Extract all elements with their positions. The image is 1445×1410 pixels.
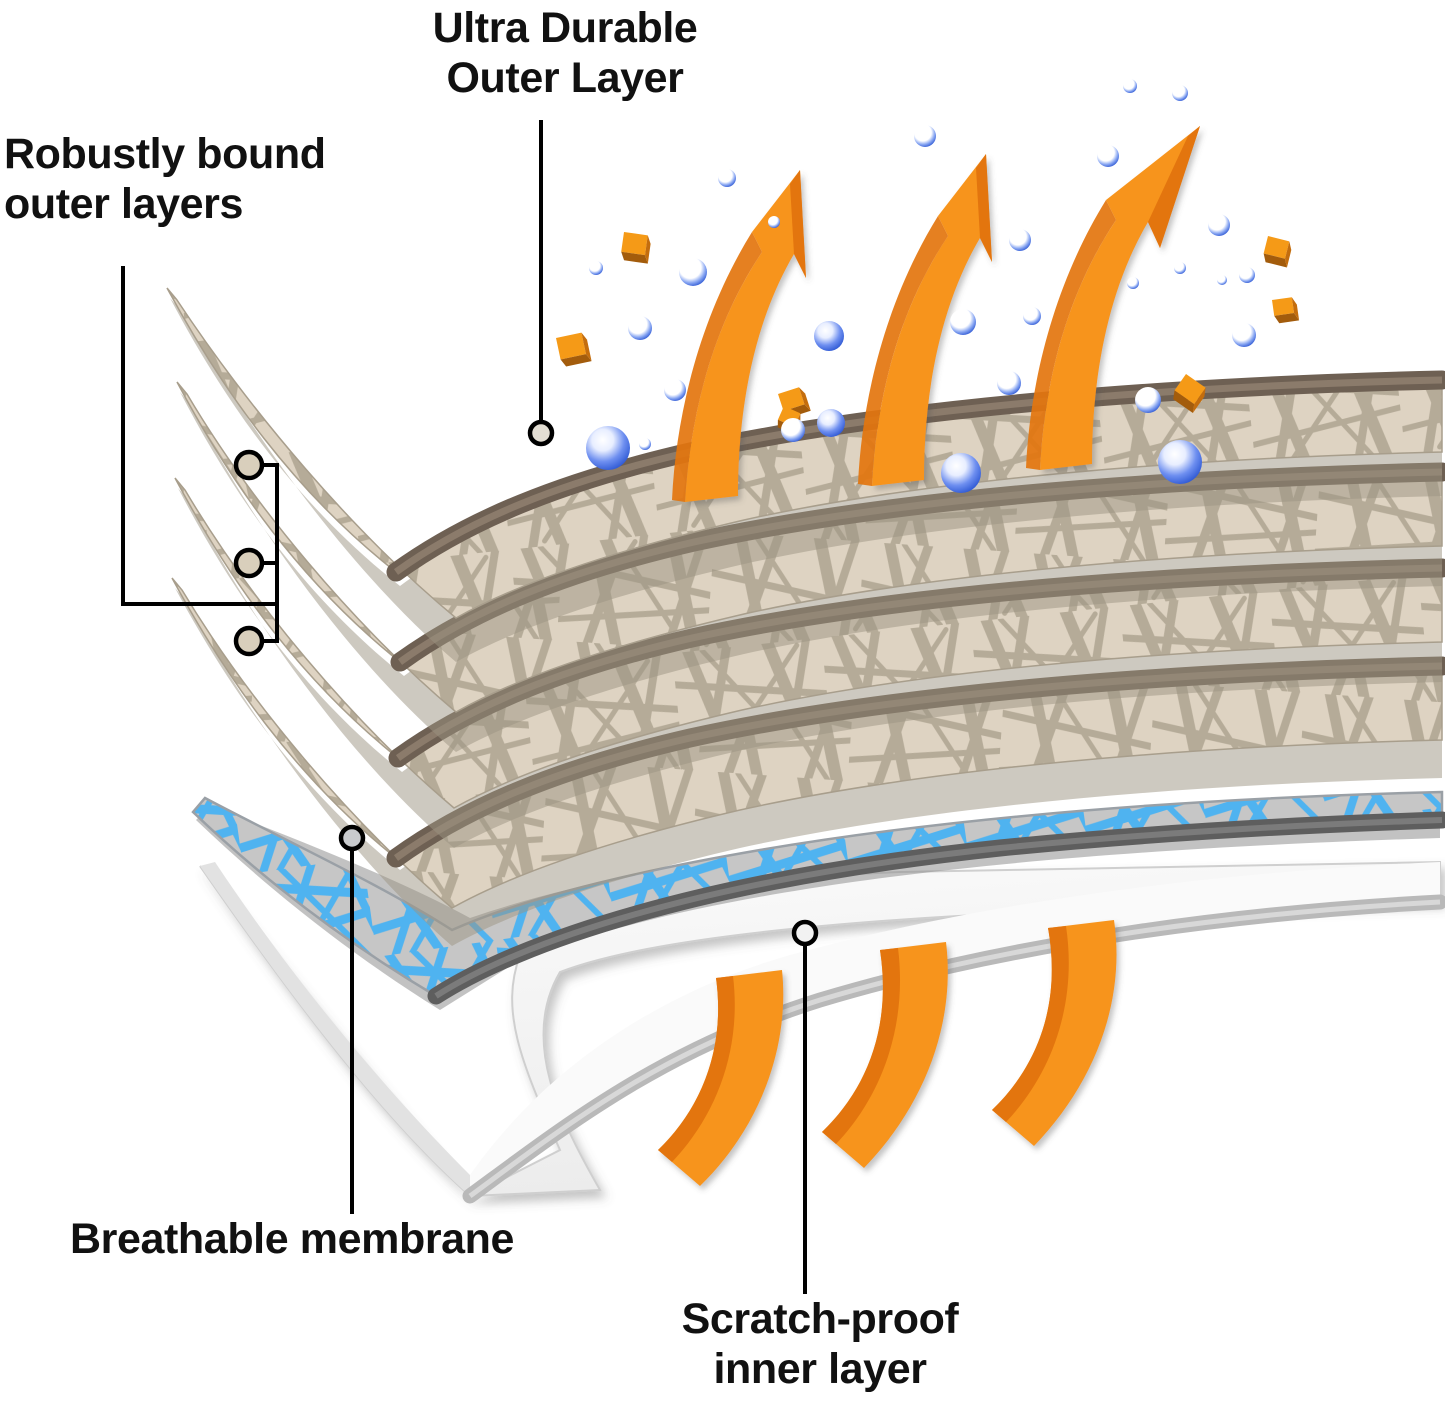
droplet bbox=[589, 261, 603, 275]
droplet bbox=[1097, 145, 1119, 167]
marker-bond-3 bbox=[236, 628, 262, 654]
droplet bbox=[817, 409, 845, 437]
label-breathable-membrane: Breathable membrane bbox=[70, 1215, 680, 1265]
droplet bbox=[781, 418, 805, 442]
diagram-canvas: Ultra Durable Outer Layer Robustly bound… bbox=[0, 0, 1445, 1410]
dirt-cube bbox=[620, 232, 652, 264]
droplet bbox=[1009, 229, 1031, 251]
droplet bbox=[718, 169, 736, 187]
droplet bbox=[664, 379, 686, 401]
droplet bbox=[1174, 262, 1186, 274]
droplet bbox=[914, 125, 936, 147]
droplet bbox=[1232, 323, 1256, 347]
droplet bbox=[1023, 307, 1041, 325]
droplet bbox=[1123, 79, 1137, 93]
droplet bbox=[1208, 214, 1230, 236]
droplet bbox=[768, 216, 780, 228]
droplet bbox=[997, 371, 1021, 395]
droplet bbox=[679, 258, 707, 286]
droplet bbox=[1158, 440, 1202, 484]
droplet bbox=[586, 426, 630, 470]
droplet bbox=[1217, 275, 1227, 285]
droplet bbox=[941, 453, 981, 493]
dirt-cube bbox=[1262, 236, 1294, 268]
label-robustly-bound-outer-layers: Robustly bound outer layers bbox=[4, 130, 424, 230]
droplet bbox=[950, 309, 976, 335]
airflow-arrows-down bbox=[658, 920, 1116, 1186]
marker-bond-2 bbox=[236, 550, 262, 576]
droplet bbox=[1172, 85, 1188, 101]
droplet bbox=[814, 321, 844, 351]
label-scratch-proof-inner-layer: Scratch-proof inner layer bbox=[620, 1295, 1020, 1395]
dirt-cube bbox=[1272, 297, 1299, 324]
droplet bbox=[628, 316, 652, 340]
label-ultra-durable-outer-layer: Ultra Durable Outer Layer bbox=[390, 4, 740, 104]
droplet bbox=[1135, 387, 1161, 413]
droplet bbox=[1127, 277, 1139, 289]
marker-bond-1 bbox=[236, 452, 262, 478]
marker-ultra-durable bbox=[530, 422, 552, 444]
droplet bbox=[639, 438, 651, 450]
marker-breathable bbox=[341, 827, 363, 849]
dirt-cube bbox=[556, 332, 592, 368]
droplet bbox=[1239, 267, 1255, 283]
marker-scratch-proof bbox=[794, 922, 816, 944]
